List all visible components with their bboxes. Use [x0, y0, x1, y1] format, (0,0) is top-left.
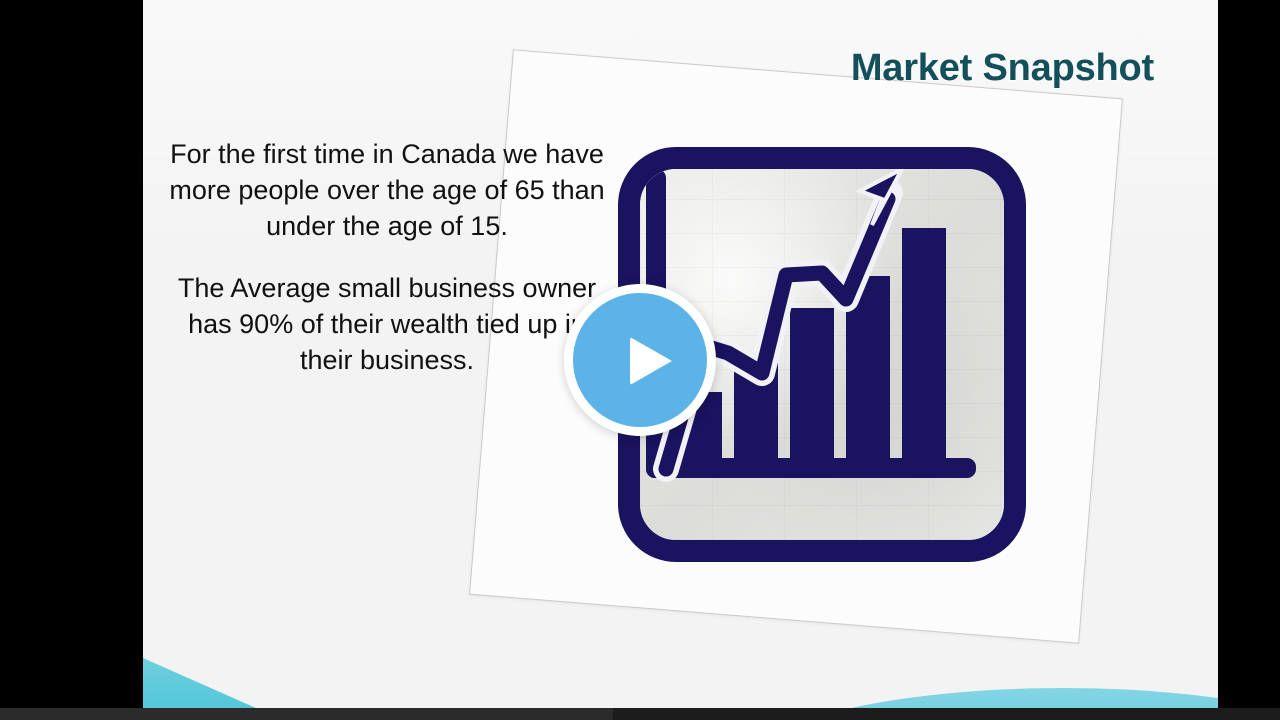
- paragraph-two: The Average small business owner has 90%…: [165, 270, 609, 378]
- letterbox-right: [1218, 0, 1280, 720]
- paragraph-one: For the first time in Canada we have mor…: [165, 136, 609, 244]
- video-player-stage: Market Snapshot For the first time in Ca…: [0, 0, 1280, 720]
- slide-body-text: For the first time in Canada we have mor…: [165, 136, 609, 378]
- video-progress-bar[interactable]: [0, 708, 613, 720]
- page-title: Market Snapshot: [851, 47, 1154, 90]
- video-player-bar[interactable]: [0, 708, 1280, 720]
- play-button[interactable]: [564, 284, 716, 436]
- corner-wedge-decoration: [143, 658, 265, 712]
- play-triangle-icon: [630, 337, 672, 385]
- letterbox-left: [0, 0, 143, 720]
- play-button-disc: [573, 293, 707, 427]
